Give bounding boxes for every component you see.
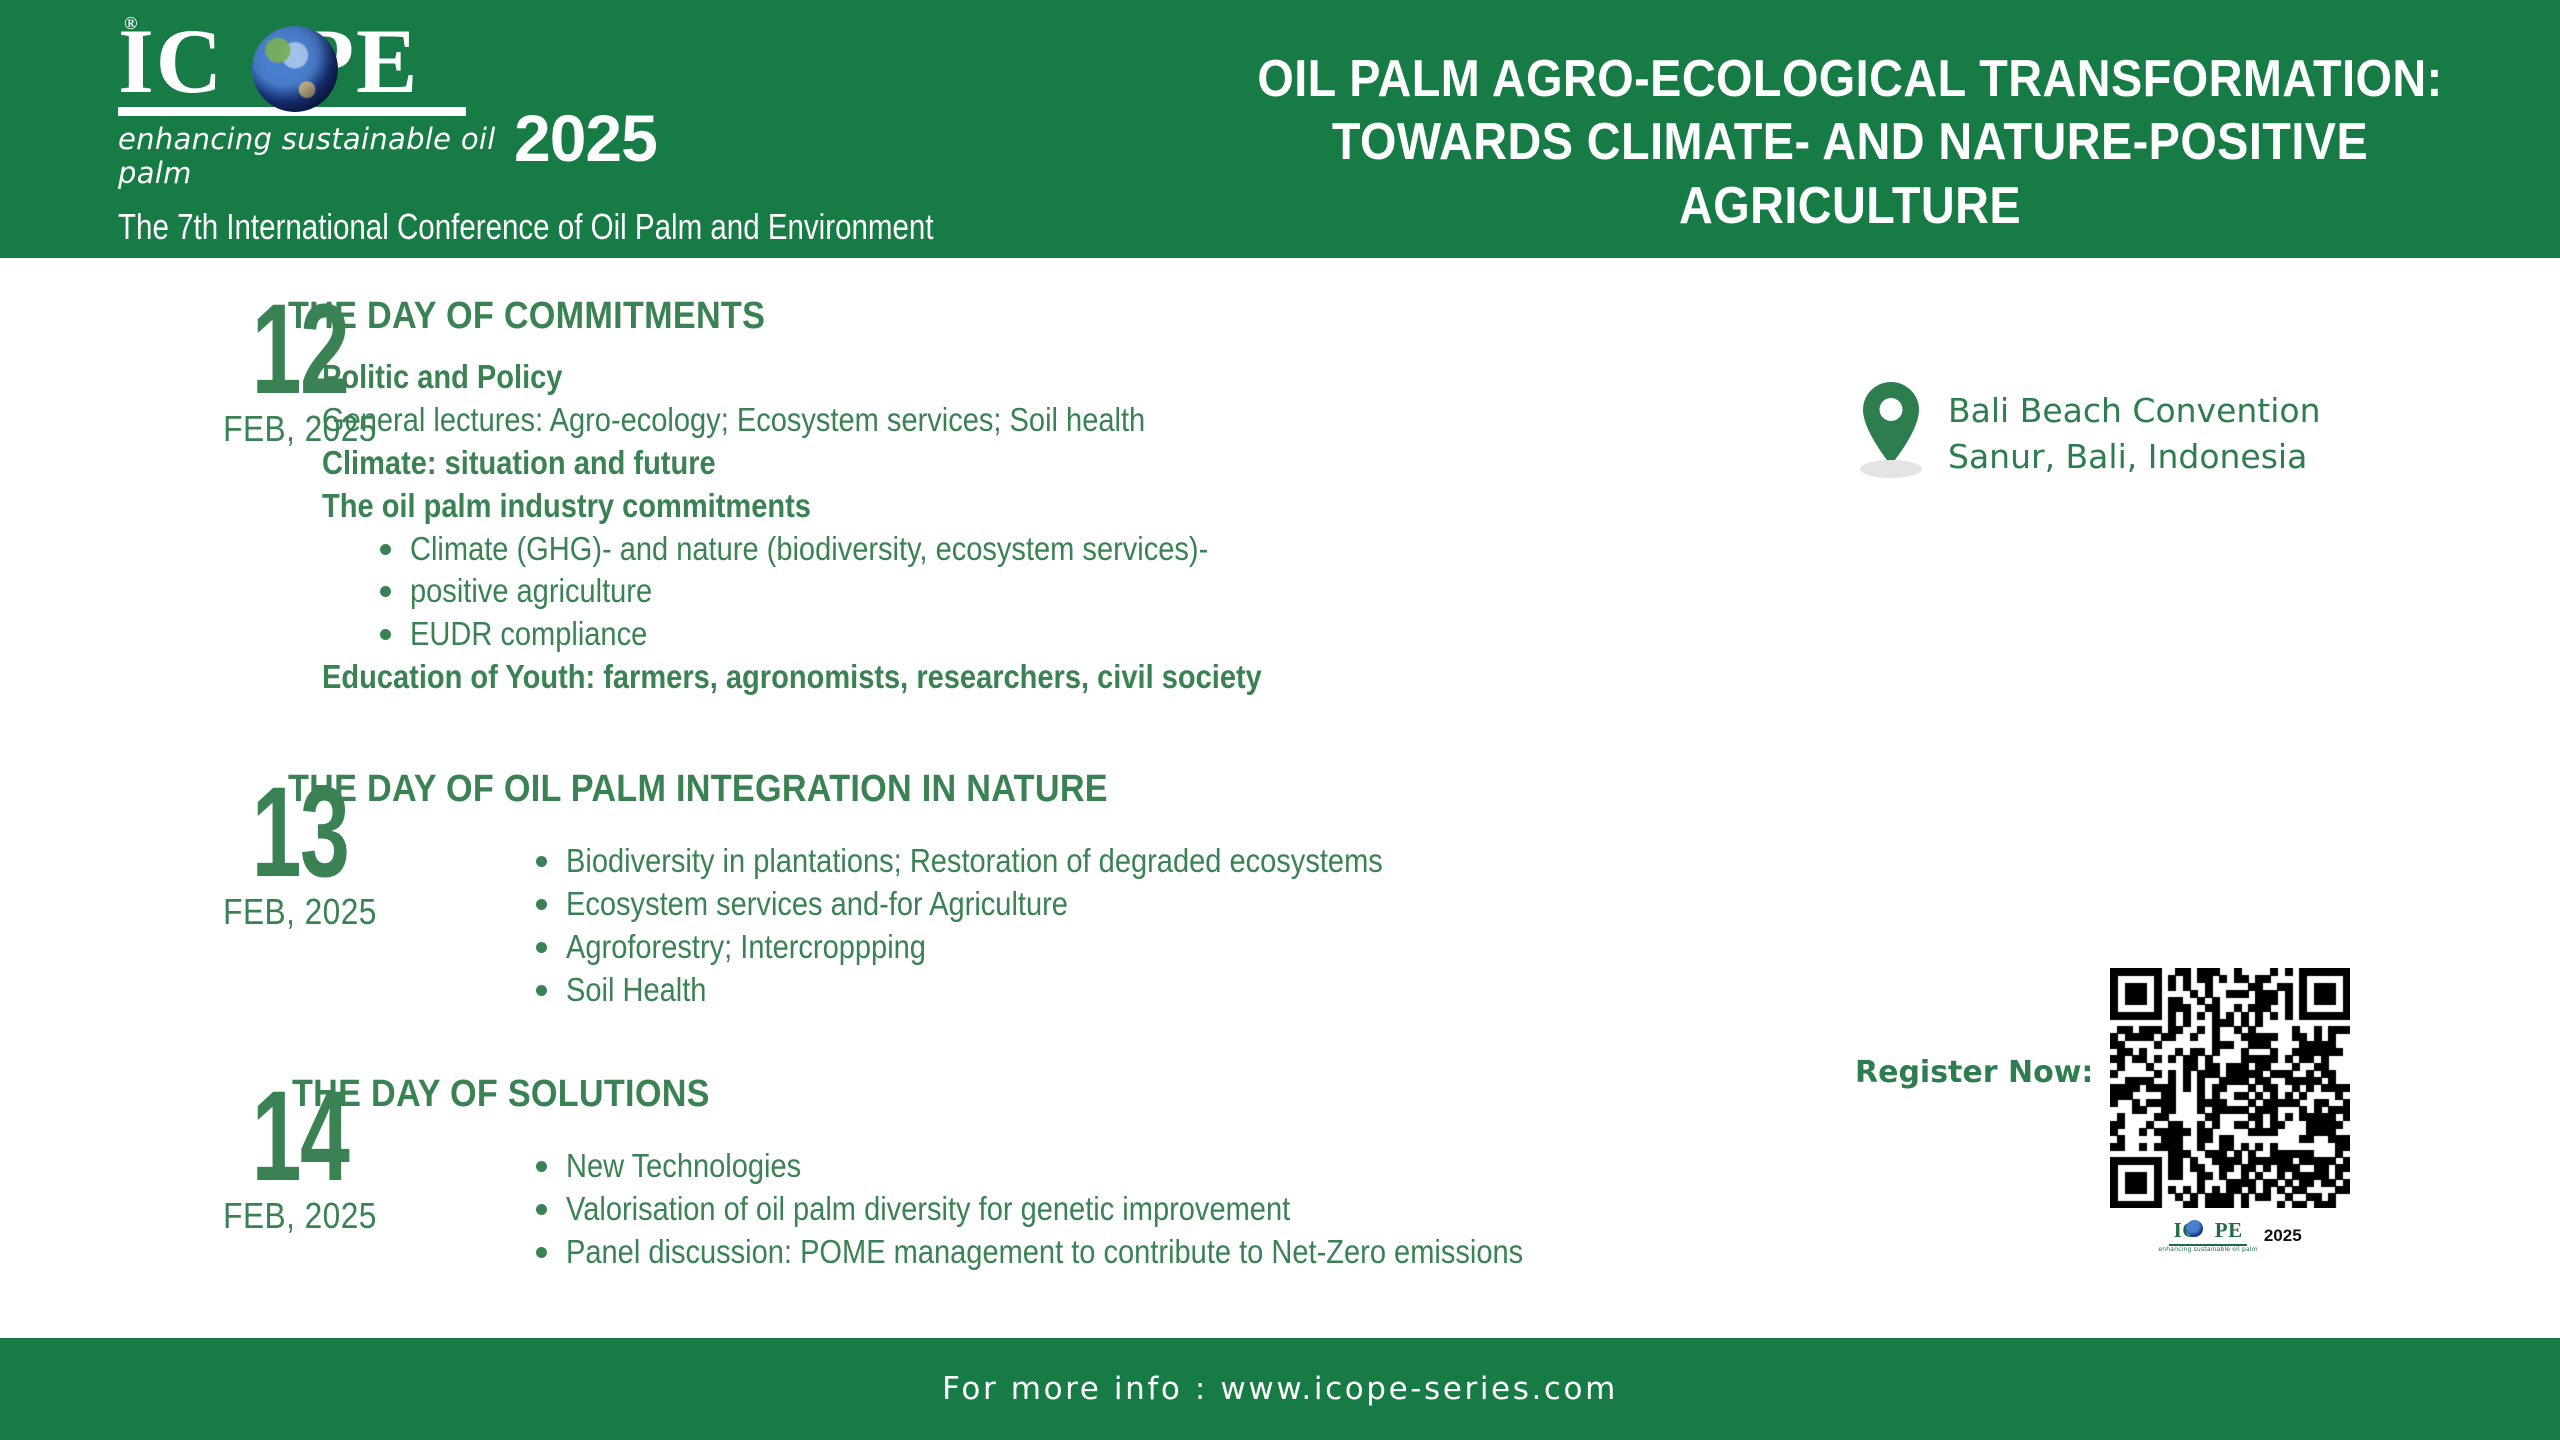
list-item: Valorisation of oil palm diversity for g… <box>520 1188 1820 1231</box>
icope-wordmark: ® ICOPE <box>118 18 498 105</box>
footer-info-text[interactable]: For more info : www.icope-series.com <box>942 1371 1618 1407</box>
day14-bullet-list: New Technologies Valorisation of oil pal… <box>520 1145 1820 1274</box>
day12-bullet-list: Climate (GHG)- and nature (biodiversity,… <box>364 528 1522 657</box>
day14-bullet-2: Valorisation of oil palm diversity for g… <box>566 1188 1670 1231</box>
list-item: EUDR compliance <box>364 613 1522 656</box>
list-item: Ecosystem services and-for Agriculture <box>520 883 1720 926</box>
page-title: OIL PALM AGRO-ECOLOGICAL TRANSFORMATION:… <box>1160 48 2540 238</box>
day13-bullet-list: Biodiversity in plantations; Restoration… <box>520 840 1720 1012</box>
qr-logo-year: 2025 <box>2264 1226 2302 1246</box>
day12-line-politic: Politic and Policy <box>322 356 1378 399</box>
list-item: Biodiversity in plantations; Restoration… <box>520 840 1720 883</box>
poster-header: ® ICOPE enhancing sustainable oil palm 2… <box>0 0 2560 258</box>
brand-block: ® ICOPE enhancing sustainable oil palm 2… <box>118 18 1078 248</box>
list-item: Climate (GHG)- and nature (biodiversity,… <box>364 528 1522 571</box>
day12-line-industry: The oil palm industry commitments <box>322 485 1378 528</box>
page-title-line1: OIL PALM AGRO-ECOLOGICAL TRANSFORMATION: <box>1229 48 2471 111</box>
day-month-13: FEB, 2025 <box>199 894 401 930</box>
day14-bullet-3: Panel discussion: POME management to con… <box>566 1231 1670 1274</box>
venue-address: Bali Beach Convention Sanur, Bali, Indon… <box>1948 382 2321 480</box>
day12-bullet-2: EUDR compliance <box>410 613 1389 656</box>
venue-line-2: Sanur, Bali, Indonesia <box>1948 434 2321 480</box>
day13-bullet-2: Ecosystem services and-for Agriculture <box>566 883 1582 926</box>
map-pin-icon <box>1860 382 1922 478</box>
qr-icope-part2: PE <box>2215 1218 2243 1242</box>
conference-poster: ® ICOPE enhancing sustainable oil palm 2… <box>0 0 2560 1440</box>
day12-line-climate: Climate: situation and future <box>322 442 1378 485</box>
venue-line-1: Bali Beach Convention <box>1948 388 2321 434</box>
registered-trademark-icon: ® <box>124 14 139 32</box>
qr-logo: ICOPE enhancing sustainable oil palm 202… <box>2110 1218 2350 1253</box>
logo-row: ® ICOPE enhancing sustainable oil palm 2… <box>118 18 1078 190</box>
list-item: Panel discussion: POME management to con… <box>520 1231 1820 1274</box>
day-title-12: THE DAY OF COMMITMENTS <box>288 295 765 338</box>
page-title-line2: TOWARDS CLIMATE- AND NATURE-POSITIVE AGR… <box>1229 111 2471 238</box>
day12-bullet-1: Climate (GHG)- and nature (biodiversity,… <box>410 528 1389 571</box>
list-item-continuation: positive agriculture <box>364 570 1522 613</box>
register-now-label: Register Now: <box>1855 1055 2093 1090</box>
day-body-13: Biodiversity in plantations; Restoration… <box>520 840 1720 1012</box>
day-body-14: New Technologies Valorisation of oil pal… <box>520 1145 1820 1274</box>
poster-footer: For more info : www.icope-series.com <box>0 1338 2560 1440</box>
day-title-14: THE DAY OF SOLUTIONS <box>292 1073 710 1116</box>
qr-icope-wordmark: ICOPE <box>2158 1218 2257 1243</box>
conference-subtitle: The 7th International Conference of Oil … <box>118 206 905 248</box>
register-qr-block[interactable]: ICOPE enhancing sustainable oil palm 202… <box>2110 968 2350 1253</box>
day13-bullet-3: Agroforestry; Intercroppping <box>566 926 1582 969</box>
day12-bullet-1-cont: positive agriculture <box>410 570 1389 613</box>
map-pin-shadow <box>1860 460 1922 478</box>
icope-logo: ® ICOPE enhancing sustainable oil palm <box>118 18 498 190</box>
list-item: Agroforestry; Intercroppping <box>520 926 1720 969</box>
list-item: New Technologies <box>520 1145 1820 1188</box>
logo-year: 2025 <box>514 100 657 190</box>
qr-code-icon[interactable] <box>2110 968 2350 1208</box>
logo-tagline: enhancing sustainable oil palm <box>118 122 498 190</box>
day12-line-education: Education of Youth: farmers, agronomists… <box>322 656 1378 699</box>
day14-bullet-1: New Technologies <box>566 1145 1670 1188</box>
day-month-14: FEB, 2025 <box>199 1198 401 1234</box>
day13-bullet-4: Soil Health <box>566 969 1582 1012</box>
day-body-12: Politic and Policy General lectures: Agr… <box>322 356 1522 699</box>
day-title-13: THE DAY OF OIL PALM INTEGRATION IN NATUR… <box>288 768 1108 811</box>
day12-line-lectures: General lectures: Agro-ecology; Ecosyste… <box>322 399 1378 442</box>
earth-globe-icon <box>252 26 338 112</box>
list-item: Soil Health <box>520 969 1720 1012</box>
qr-logo-tagline: enhancing sustainable oil palm <box>2158 1246 2257 1253</box>
day13-bullet-1: Biodiversity in plantations; Restoration… <box>566 840 1582 883</box>
venue-block: Bali Beach Convention Sanur, Bali, Indon… <box>1860 382 2321 480</box>
